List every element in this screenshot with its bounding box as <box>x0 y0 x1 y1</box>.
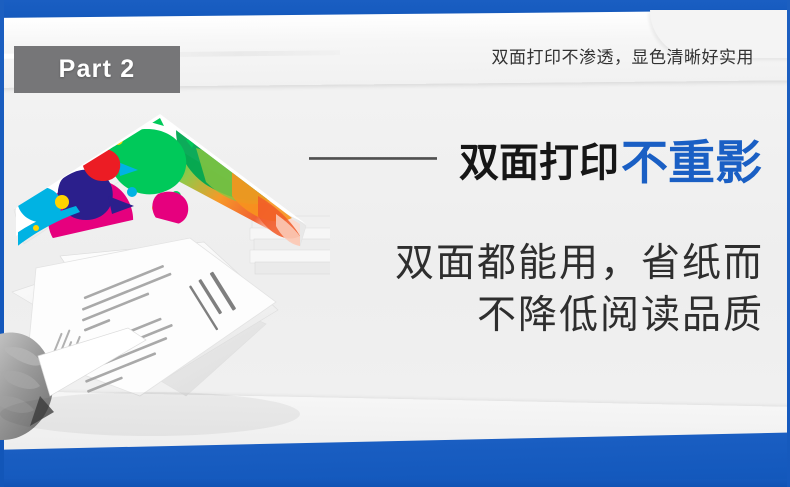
tagline: 双面打印不渗透，显色清晰好实用 <box>492 43 755 68</box>
subheading-line-1: 双面都能用，省纸而 <box>395 238 764 290</box>
ink-splash-paper-illustration <box>0 96 330 456</box>
headline-blue-text: 不重影 <box>621 124 762 193</box>
subheading-line-2: 不降低阅读品质 <box>395 290 764 342</box>
headline: 双面打印 不重影 <box>309 124 762 193</box>
part-tag-label: Part 2 <box>59 55 136 84</box>
product-photo <box>0 96 330 456</box>
subheading: 双面都能用，省纸而 不降低阅读品质 <box>395 238 764 342</box>
bottom-blue-edge <box>0 479 790 487</box>
promo-banner: Part 2 双面打印不渗透，显色清晰好实用 双面打印 不重影 双面都能用，省纸… <box>0 0 790 487</box>
headline-rule-icon <box>309 157 437 160</box>
part-tag: Part 2 <box>14 46 180 93</box>
headline-dark-text: 双面打印 <box>459 130 619 188</box>
